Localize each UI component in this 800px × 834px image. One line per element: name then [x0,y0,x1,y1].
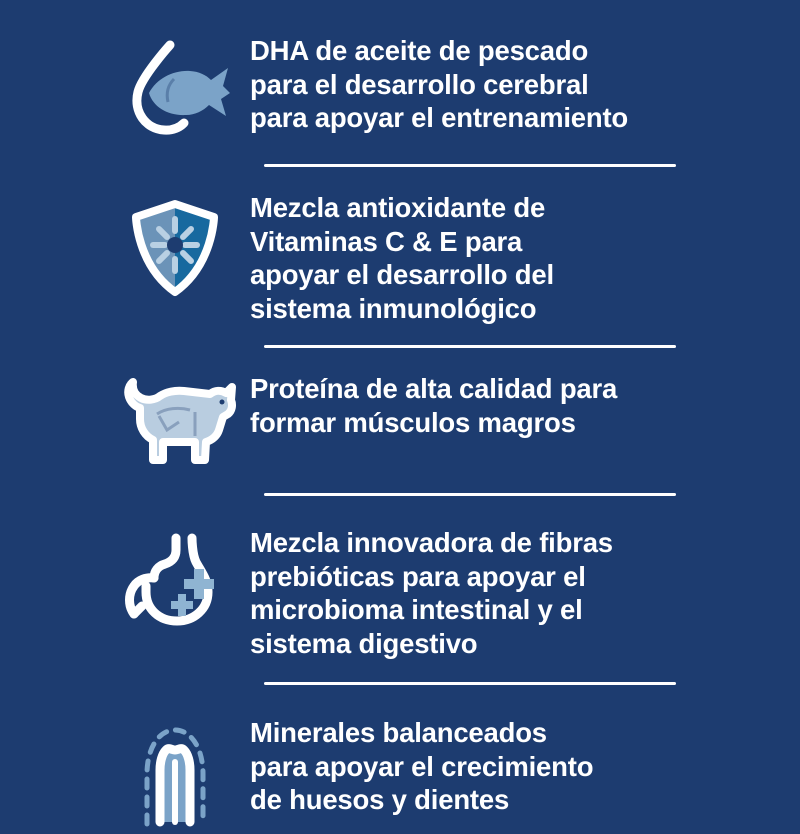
section-divider [264,345,676,348]
feature-item-minerals: Minerales balanceados para apoyar el cre… [0,716,800,834]
icon-cell [100,34,250,140]
divider-wrap [0,682,800,685]
feature-text: Proteína de alta calidad para formar mús… [250,372,690,439]
text-cell: Mezcla innovadora de fibras prebióticas … [250,526,800,660]
icon-cell [100,526,250,632]
divider-wrap [0,164,800,167]
text-cell: DHA de aceite de pescado para el desarro… [250,34,800,135]
text-cell: Proteína de alta calidad para formar mús… [250,372,800,439]
section-divider [264,682,676,685]
icon-cell [100,191,250,305]
text-cell: Mezcla antioxidante de Vitaminas C & E p… [250,191,800,325]
feature-item-dha: DHA de aceite de pescado para el desarro… [0,34,800,140]
feature-item-antioxidants: Mezcla antioxidante de Vitaminas C & E p… [0,191,800,325]
droplet-fish-icon [116,36,234,140]
feature-item-protein: Proteína de alta calidad para formar mús… [0,372,800,470]
feature-text: Minerales balanceados para apoyar el cre… [250,716,690,817]
section-divider [264,493,676,496]
feature-text: DHA de aceite de pescado para el desarro… [250,34,690,135]
feature-item-fiber: Mezcla innovadora de fibras prebióticas … [0,526,800,660]
stomach-plus-icon [120,528,230,632]
divider-wrap [0,345,800,348]
dog-muscle-icon [111,374,239,470]
bone-cross-section-icon [127,718,223,834]
shield-sunburst-icon [123,193,227,305]
feature-text: Mezcla innovadora de fibras prebióticas … [250,526,690,660]
feature-text: Mezcla antioxidante de Vitaminas C & E p… [250,191,690,325]
icon-cell [100,716,250,834]
text-cell: Minerales balanceados para apoyar el cre… [250,716,800,817]
benefits-panel: DHA de aceite de pescado para el desarro… [0,0,800,800]
divider-wrap [0,493,800,496]
icon-cell [100,372,250,470]
section-divider [264,164,676,167]
feature-list: DHA de aceite de pescado para el desarro… [0,0,800,800]
